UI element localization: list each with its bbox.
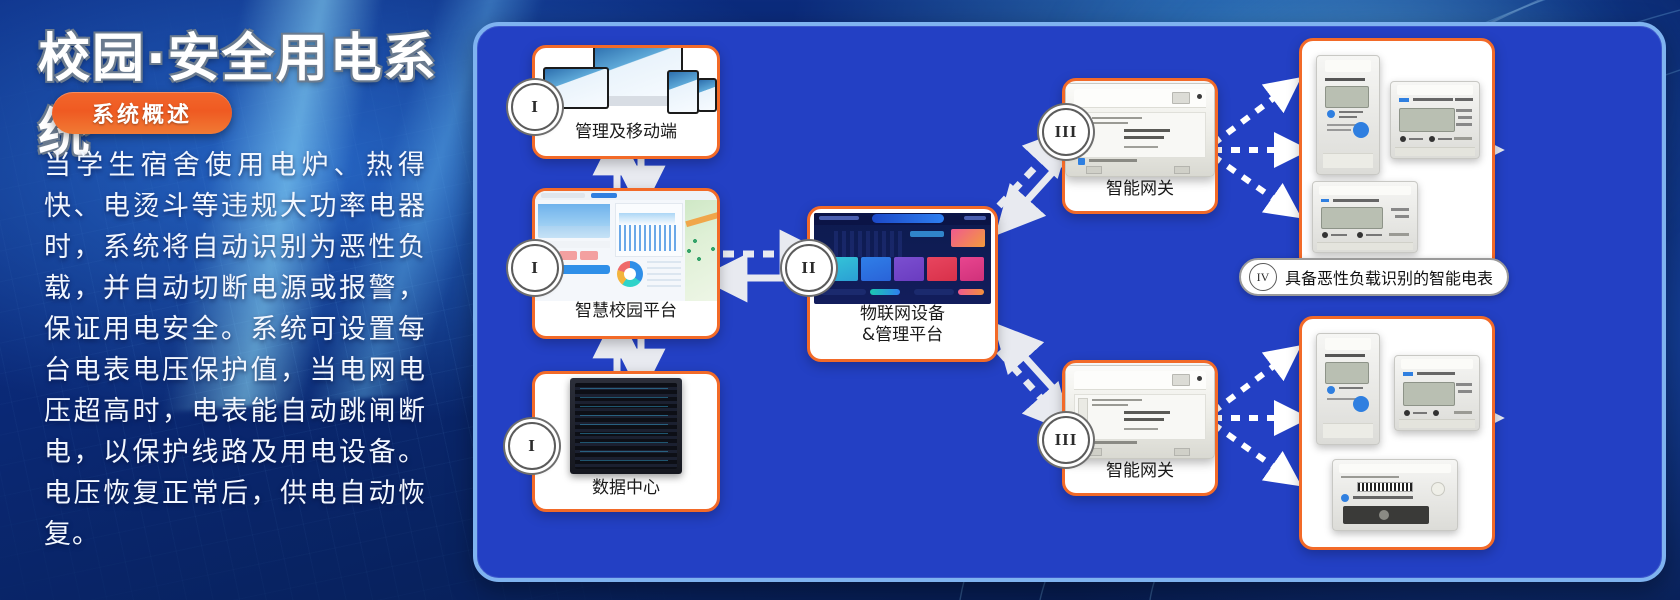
single-phase-meter-icon xyxy=(1316,333,1380,445)
numeral-badge-smart-campus: I xyxy=(511,244,559,292)
numeral-badge-data-center: I xyxy=(508,422,556,470)
node-label-smart-campus: 智慧校园平台 xyxy=(535,301,717,322)
din-rail-meter-icon xyxy=(1312,181,1418,253)
node-label-gateway-bottom: 智能网关 xyxy=(1065,461,1215,482)
node-label-gateway-top: 智能网关 xyxy=(1065,179,1215,200)
iot-dashboard-icon xyxy=(810,209,995,304)
node-card-smart-campus[interactable]: 智慧校园平台 xyxy=(532,188,720,339)
node-label-iot-platform-line2: &管理平台 xyxy=(810,325,995,346)
node-label-data-center: 数据中心 xyxy=(535,478,717,499)
numeral-badge-gateway-bottom: III xyxy=(1042,416,1090,464)
connector-iot-to-gateway-top xyxy=(999,146,1069,216)
left-info-column: 校园·安全用电系统 系统概述 当学生宿舍使用电炉、热得快、电烫斗等违规大功率电器… xyxy=(0,0,470,600)
architecture-diagram-panel: 管理及移动端 I xyxy=(473,22,1666,582)
connector-gateway-top-to-meters xyxy=(1213,88,1292,208)
meter-type-label-text: 具备恶性负载识别的智能电表 xyxy=(1285,265,1493,289)
system-description: 当学生宿舍使用电炉、热得快、电烫斗等违规大功率电器时，系统将自动识别为恶性负载，… xyxy=(44,145,426,555)
overview-badge: 系统概述 xyxy=(52,92,232,134)
numeral-badge-iot-platform: II xyxy=(785,244,833,292)
dashboard-map-icon xyxy=(535,191,717,301)
meter-card-bottom[interactable] xyxy=(1299,316,1495,550)
node-card-data-center[interactable]: 数据中心 xyxy=(532,371,720,512)
meter-card-top[interactable] xyxy=(1299,38,1495,272)
page-title: 校园·安全用电系统 xyxy=(38,16,470,166)
numeral-badge-meter: IV xyxy=(1249,263,1277,291)
node-card-admin-mobile[interactable]: 管理及移动端 xyxy=(532,45,720,159)
numeral-badge-gateway-top: III xyxy=(1042,108,1090,156)
din-rail-meter-icon xyxy=(1332,459,1458,531)
connector-iot-to-gateway-bottom xyxy=(999,342,1069,414)
node-label-iot-platform-line1: 物联网设备 xyxy=(810,304,995,325)
connector-gateway-bottom-to-meters xyxy=(1213,356,1292,476)
connector-campus-to-datacenter xyxy=(617,336,641,371)
devices-icon xyxy=(535,48,717,122)
meter-type-label[interactable]: IV 具备恶性负载识别的智能电表 xyxy=(1239,258,1509,296)
numeral-badge-admin-mobile: I xyxy=(511,83,559,131)
three-phase-meter-icon xyxy=(1394,355,1480,431)
node-card-iot-platform[interactable]: 物联网设备 &管理平台 xyxy=(807,206,998,362)
three-phase-meter-icon xyxy=(1390,81,1480,159)
single-phase-meter-icon xyxy=(1316,55,1380,175)
server-rack-icon xyxy=(535,374,717,478)
